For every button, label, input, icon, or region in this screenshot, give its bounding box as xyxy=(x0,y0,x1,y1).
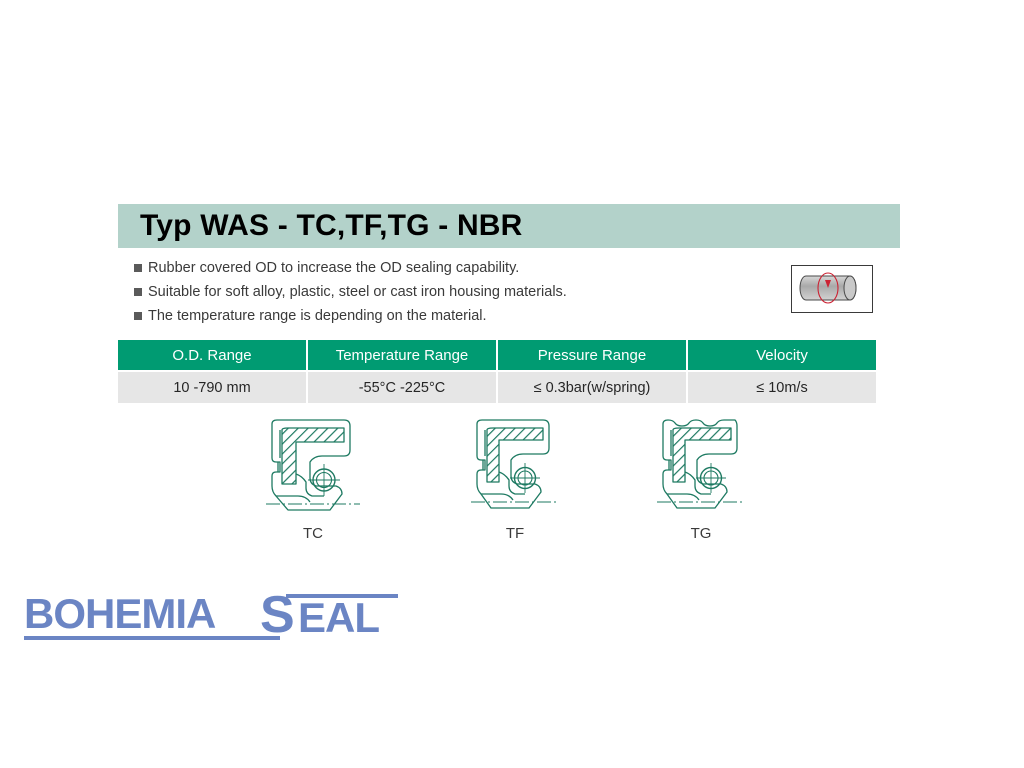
column-header-od-range: O.D. Range xyxy=(118,340,307,371)
seal-label-tc: TC xyxy=(238,525,388,542)
column-header-pressure-range: Pressure Range xyxy=(497,340,687,371)
logo-primary-text: BOHEMIA xyxy=(24,590,216,637)
seal-diagram-row: TC TF xyxy=(118,418,878,553)
title-band: Typ WAS - TC,TF,TG - NBR xyxy=(118,204,900,248)
table-row: 10 -790 mm -55°C -225°C ≤ 0.3bar(w/sprin… xyxy=(118,371,876,403)
list-item: Rubber covered OD to increase the OD sea… xyxy=(134,258,734,278)
logo-eal-letters: EAL xyxy=(298,594,379,641)
specification-table: O.D. Range Temperature Range Pressure Ra… xyxy=(118,340,876,403)
feature-list: Rubber covered OD to increase the OD sea… xyxy=(134,258,734,330)
list-item-label: The temperature range is depending on th… xyxy=(148,306,487,326)
square-bullet-icon xyxy=(134,288,142,296)
table-header-row: O.D. Range Temperature Range Pressure Ra… xyxy=(118,340,876,371)
list-item: Suitable for soft alloy, plastic, steel … xyxy=(134,282,734,302)
rotating-shaft-icon xyxy=(791,265,873,313)
column-header-velocity: Velocity xyxy=(687,340,876,371)
seal-diagram-tg: TG xyxy=(626,418,776,542)
seal-label-tf: TF xyxy=(440,525,590,542)
cell-temperature-range: -55°C -225°C xyxy=(307,371,497,403)
list-item-label: Suitable for soft alloy, plastic, steel … xyxy=(148,282,567,302)
page-title: Typ WAS - TC,TF,TG - NBR xyxy=(140,209,523,243)
seal-diagram-tf: TF xyxy=(440,418,590,542)
seal-diagram-tc: TC xyxy=(238,418,388,542)
list-item-label: Rubber covered OD to increase the OD sea… xyxy=(148,258,519,278)
seal-label-tg: TG xyxy=(626,525,776,542)
column-header-temperature-range: Temperature Range xyxy=(307,340,497,371)
square-bullet-icon xyxy=(134,312,142,320)
cell-pressure-range: ≤ 0.3bar(w/spring) xyxy=(497,371,687,403)
company-logo: BOHEMIA S EAL xyxy=(18,586,418,646)
cell-od-range: 10 -790 mm xyxy=(118,371,307,403)
list-item: The temperature range is depending on th… xyxy=(134,306,734,326)
cell-velocity: ≤ 10m/s xyxy=(687,371,876,403)
square-bullet-icon xyxy=(134,264,142,272)
